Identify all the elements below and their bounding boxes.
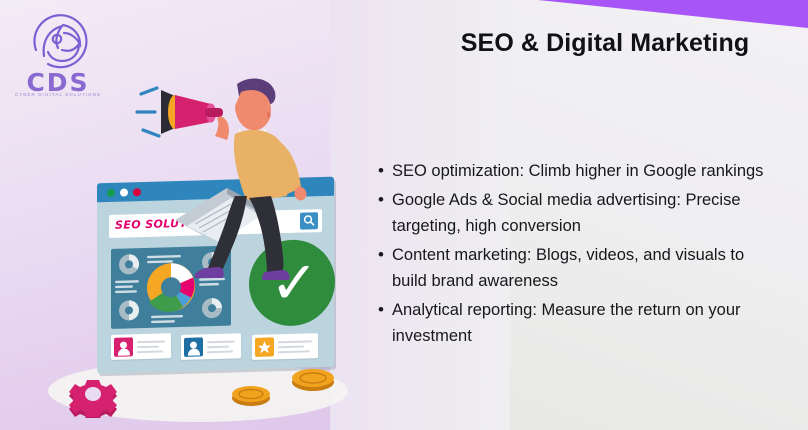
slide-canvas: CDS CYBER DIGITAL SOLUTIONS SEO & Digita…	[0, 0, 808, 430]
contact-card-pink	[111, 333, 171, 360]
bullet-marker-icon: •	[378, 187, 392, 213]
marketer-with-megaphone	[135, 70, 315, 270]
list-item: • Analytical reporting: Measure the retu…	[378, 297, 778, 349]
bullet-marker-icon: •	[378, 242, 392, 268]
list-item-text: Content marketing: Blogs, videos, and vi…	[392, 242, 778, 294]
gold-coin-small	[230, 382, 272, 413]
list-item: • Google Ads & Social media advertising:…	[378, 187, 778, 239]
rating-card-orange	[252, 333, 318, 360]
bullet-marker-icon: •	[378, 158, 392, 184]
user-icon	[184, 337, 203, 357]
cds-circular-swirl-logo-icon	[22, 6, 94, 72]
seo-marketing-illustration: SEO SOLUTIONS	[40, 70, 360, 420]
bullet-list: • SEO optimization: Climb higher in Goog…	[378, 158, 778, 352]
list-item: • SEO optimization: Climb higher in Goog…	[378, 158, 778, 184]
window-dot-green	[107, 189, 115, 197]
gold-coin-large	[290, 365, 336, 398]
contact-card-blue	[181, 333, 241, 360]
pink-gear	[67, 370, 119, 418]
list-item-text: Google Ads & Social media advertising: P…	[392, 187, 778, 239]
list-item: • Content marketing: Blogs, videos, and …	[378, 242, 778, 294]
bullet-marker-icon: •	[378, 297, 392, 323]
list-item-text: SEO optimization: Climb higher in Google…	[392, 158, 778, 184]
window-dot-white	[120, 188, 128, 196]
star-icon	[255, 337, 274, 357]
list-item-text: Analytical reporting: Measure the return…	[392, 297, 778, 349]
page-title: SEO & Digital Marketing	[420, 29, 790, 58]
user-icon	[114, 337, 133, 357]
